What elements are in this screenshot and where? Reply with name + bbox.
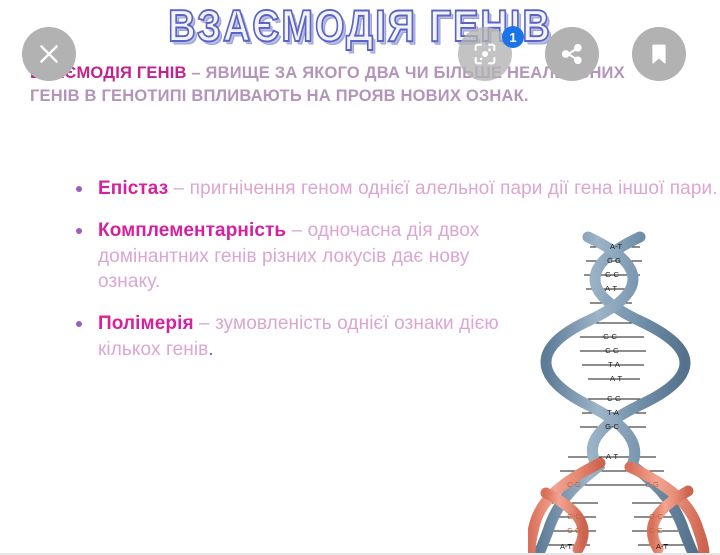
image-viewer[interactable]: ВЗАЄМОДІЯ ГЕНІВ ВЗАЄМОДІЯ ГЕНІВ – ЯВИЩЕ … xyxy=(0,0,720,555)
close-icon xyxy=(36,41,62,67)
save-button[interactable] xyxy=(632,27,686,81)
list-item-term: Полімерія xyxy=(98,313,194,334)
slide-content: ВЗАЄМОДІЯ ГЕНІВ ВЗАЄМОДІЯ ГЕНІВ – ЯВИЩЕ … xyxy=(0,0,720,553)
svg-text:A-T: A-T xyxy=(560,542,573,551)
svg-text:C-G: C-G xyxy=(567,526,581,535)
svg-text:T-A: T-A xyxy=(608,360,620,369)
svg-text:C-G: C-G xyxy=(605,346,619,355)
share-button[interactable] xyxy=(545,27,599,81)
svg-text:G-C: G-C xyxy=(649,512,663,521)
svg-text:A-T: A-T xyxy=(606,452,619,461)
svg-text:A-T: A-T xyxy=(605,284,618,293)
list-item: Полімерія – зумовленість однієї ознаки д… xyxy=(68,311,518,363)
slide-title: ВЗАЄМОДІЯ ГЕНІВ xyxy=(0,2,720,53)
svg-text:C-G: C-G xyxy=(567,480,581,489)
svg-text:C-G: C-G xyxy=(607,256,621,265)
svg-text:A-T: A-T xyxy=(656,542,669,551)
definition-paragraph: ВЗАЄМОДІЯ ГЕНІВ – ЯВИЩЕ ЗА ЯКОГО ДВА ЧИ … xyxy=(30,62,630,109)
list-item-term: Епістаз xyxy=(98,178,168,199)
list-item-term: Комплементарність xyxy=(98,220,286,241)
svg-text:A-T: A-T xyxy=(610,242,623,251)
svg-text:T-A: T-A xyxy=(607,408,619,417)
svg-text:G-C: G-C xyxy=(605,422,619,431)
svg-text:G-C: G-C xyxy=(567,512,581,521)
list-item-text: – пригнічення геном однієї алельної пари… xyxy=(168,178,717,199)
list-item: Комплементарність – одночасна дія двох д… xyxy=(68,218,528,295)
svg-text:G-C: G-C xyxy=(603,332,617,341)
lens-badge: 1 xyxy=(502,26,524,48)
svg-text:A-T: A-T xyxy=(610,374,623,383)
list-item-trailing: . xyxy=(208,339,213,360)
close-button[interactable] xyxy=(22,27,76,81)
svg-text:G-C: G-C xyxy=(605,270,619,279)
svg-text:C-G: C-G xyxy=(607,394,621,403)
bookmark-icon xyxy=(646,41,672,67)
svg-text:C-G: C-G xyxy=(649,526,663,535)
share-icon xyxy=(559,41,585,67)
svg-text:C-G: C-G xyxy=(645,480,659,489)
dna-replication-illustration: A-T C-G G-C A-T G-C C-G T-A A-T C-G T-A … xyxy=(528,231,720,555)
google-lens-icon xyxy=(471,40,499,68)
list-item: Епістаз – пригнічення геном однієї алель… xyxy=(68,176,718,202)
